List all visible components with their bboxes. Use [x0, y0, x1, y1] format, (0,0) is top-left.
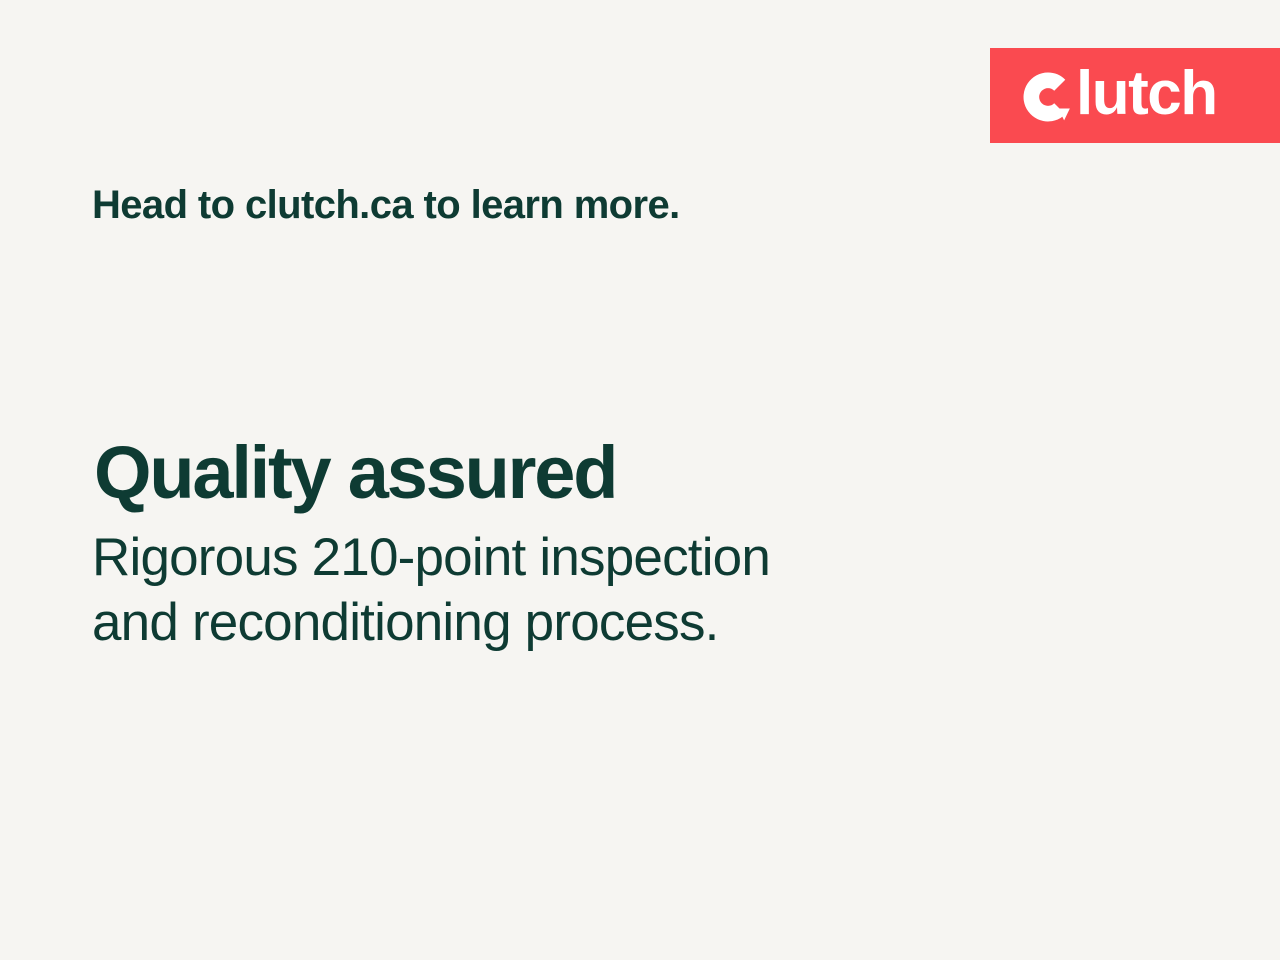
brand-banner: lutch: [990, 48, 1280, 143]
clutch-wordmark: lutch: [1076, 63, 1217, 125]
subcopy-line-2: and reconditioning process.: [92, 591, 1042, 656]
lead-line: Head to clutch.ca to learn more.: [92, 182, 680, 228]
main-copy-block: Quality assured Rigorous 210-point inspe…: [92, 436, 1042, 655]
subcopy: Rigorous 210-point inspection and recond…: [92, 526, 1042, 655]
subcopy-line-1: Rigorous 210-point inspection: [92, 526, 1042, 591]
page-title: Quality assured: [94, 436, 1042, 510]
slide-canvas: lutch Head to clutch.ca to learn more. Q…: [0, 0, 1280, 960]
clutch-c-mark-icon: [1022, 71, 1074, 123]
clutch-logo[interactable]: lutch: [1022, 48, 1217, 143]
